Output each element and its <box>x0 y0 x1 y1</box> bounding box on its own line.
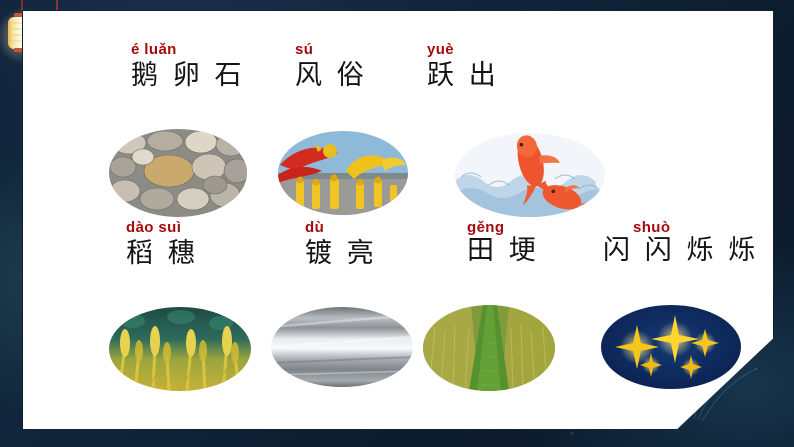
hanzi-daosui: 稻 穗 <box>126 237 276 269</box>
word-card-shanshuo: shuò 闪 闪 烁 烁 <box>633 219 673 266</box>
slide-canvas: é luǎn 鹅 卵 石 sú 风 俗 yuè 跃 出 <box>0 0 794 447</box>
hanzi-duliang: 镀 亮 <box>305 237 425 269</box>
content-panel: é luǎn 鹅 卵 石 sú 风 俗 yuè 跃 出 <box>22 10 774 430</box>
hanzi-tiangeng: 田 埂 <box>467 234 511 266</box>
word-card-tiangeng: gěng 田 埂 <box>467 219 511 266</box>
field-ridge-path-photo <box>423 305 555 391</box>
pinyin-daosui: dào suì <box>126 219 276 236</box>
hanzi-yuechu: 跃 出 <box>427 59 500 91</box>
word-card-fengsu: sú 风 俗 <box>295 41 368 91</box>
river-pebbles-photo <box>109 129 247 217</box>
hanzi-fengsu: 风 俗 <box>295 59 368 91</box>
pinyin-du: dù <box>305 219 425 236</box>
golden-sparkles-photo <box>601 305 741 389</box>
pinyin-su: sú <box>295 41 368 58</box>
hanzi-shanshuo: 闪 闪 烁 烁 <box>603 234 673 266</box>
leaping-koi-fish-photo <box>455 133 605 217</box>
word-card-eluanshi: é luǎn 鹅 卵 石 <box>131 41 246 91</box>
word-card-duliang: dù 镀 亮 <box>305 219 425 269</box>
word-card-daosui: dào suì 稻 穗 <box>126 219 276 269</box>
golden-rice-ears-photo <box>109 307 251 391</box>
word-card-yuechu: yuè 跃 出 <box>427 41 500 91</box>
polished-metal-photo <box>271 307 413 387</box>
hanzi-eluanshi: 鹅 卵 石 <box>131 59 246 91</box>
pinyin-yue: yuè <box>427 41 500 58</box>
dragon-dance-photo <box>278 131 408 215</box>
pinyin-eluan: é luǎn <box>131 41 246 58</box>
